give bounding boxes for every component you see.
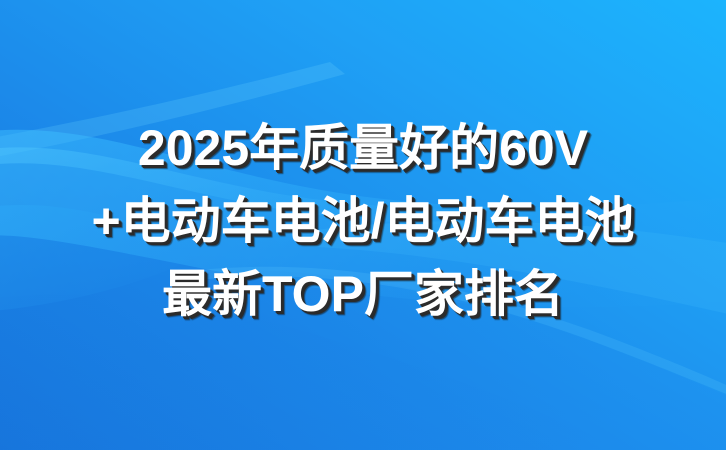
promo-banner: 2025年质量好的60V +电动车电池/电动车电池 最新TOP厂家排名	[0, 0, 726, 450]
background-waves	[0, 0, 726, 450]
